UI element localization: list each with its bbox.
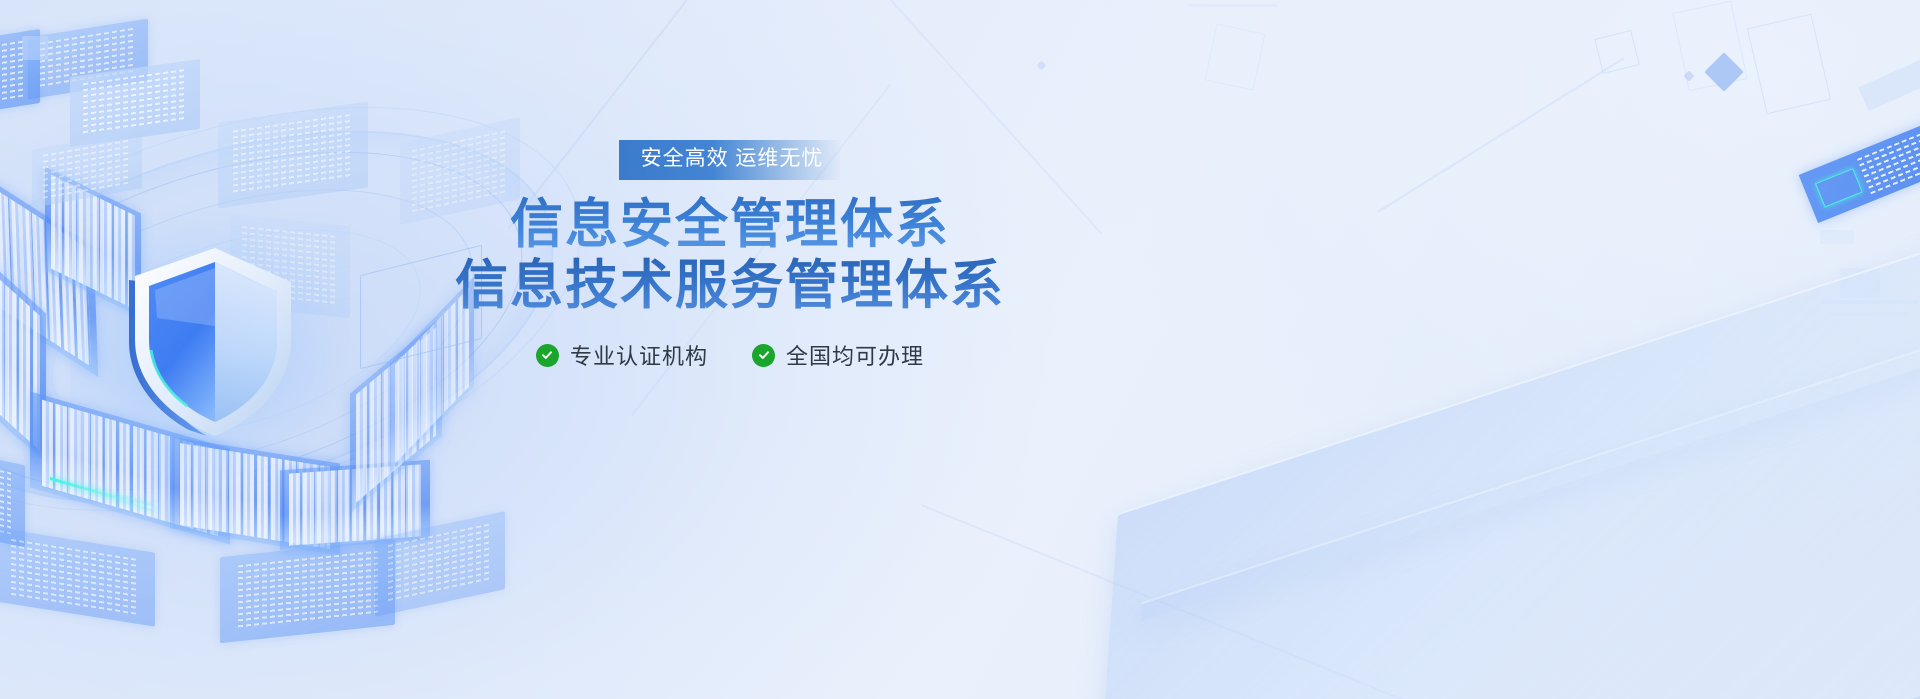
panel-data-lines <box>388 523 492 604</box>
decor-line <box>1378 57 1625 212</box>
glass-plane-large <box>1086 235 1920 699</box>
feature-item: 全国均可办理 <box>752 339 924 371</box>
decor-block <box>1820 230 1854 244</box>
strip-highlight-box <box>1814 168 1862 208</box>
floating-data-panel <box>0 527 155 626</box>
decor-outline-rect <box>1205 23 1266 90</box>
feature-list: 专业认证机构 全国均可办理 <box>430 339 1030 371</box>
feature-item: 专业认证机构 <box>536 339 708 371</box>
decor-block <box>1858 39 1920 112</box>
shield-icon <box>115 230 300 440</box>
floating-data-panel <box>220 539 395 643</box>
feature-label: 全国均可办理 <box>786 339 924 371</box>
panel-data-lines <box>11 539 139 616</box>
decor-block <box>1188 4 1278 7</box>
shield-graphic <box>115 230 300 440</box>
check-circle-icon <box>752 344 775 367</box>
tagline-badge: 安全高效 运维无忧 <box>619 140 842 180</box>
panel-data-lines <box>233 114 353 196</box>
check-circle-icon <box>536 344 559 367</box>
panel-data-lines <box>43 139 131 199</box>
panel-data-lines <box>238 551 378 631</box>
page-title-line2: 信息技术服务管理体系 <box>430 255 1030 318</box>
panel-data-lines <box>83 69 187 137</box>
decor-block <box>22 36 48 60</box>
tagline-text: 安全高效 运维无忧 <box>641 147 824 170</box>
decor-outline-rect <box>1747 14 1831 115</box>
feature-label: 专业认证机构 <box>570 339 708 371</box>
decor-diamond-small <box>1037 61 1047 71</box>
hero-banner: 安全高效 运维无忧 信息安全管理体系 信息技术服务管理体系 专业认证机构 <box>0 0 1920 699</box>
strip-data-lines <box>1857 100 1920 194</box>
decor-outline-square <box>1594 30 1640 74</box>
page-title-line1: 信息安全管理体系 <box>430 194 1030 257</box>
floating-data-strip <box>1799 89 1920 223</box>
hero-text-block: 安全高效 运维无忧 信息安全管理体系 信息技术服务管理体系 专业认证机构 <box>430 140 1030 371</box>
